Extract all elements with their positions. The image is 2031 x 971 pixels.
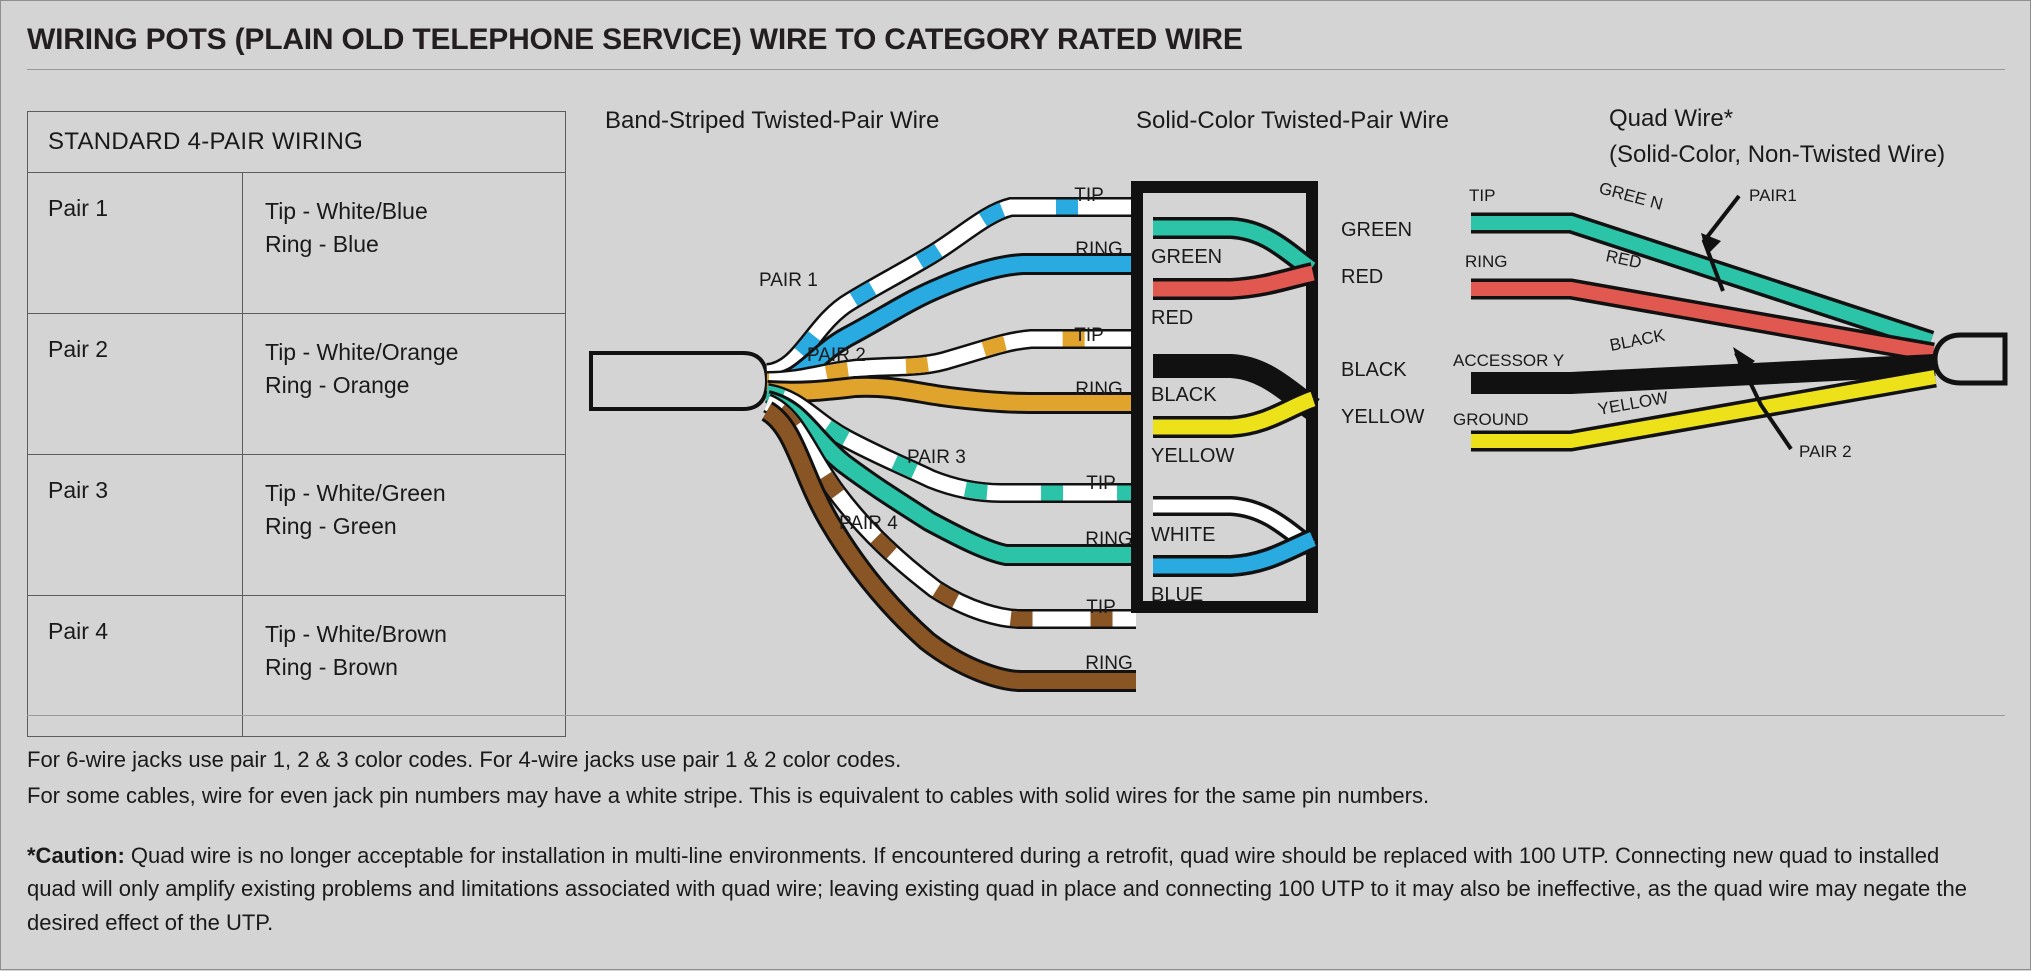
tip-code: Tip - White/Green (265, 477, 565, 510)
quad-wire-label-yellow: YELLOW (1596, 388, 1669, 419)
pair-label: Pair 1 (28, 173, 243, 314)
solid-pair-black-yellow: BLACK YELLOW BLACK YELLOW (1151, 359, 1424, 467)
quad-pair1-label: PAIR1 (1749, 186, 1797, 205)
footer-divider (27, 715, 2005, 716)
pair-colorcode: Tip - White/Green Ring - Green (243, 455, 566, 596)
section-heading-band-striped: Band-Striped Twisted-Pair Wire (605, 107, 939, 135)
quad-callout-pair1: PAIR1 (1701, 186, 1797, 291)
pair-label: Pair 3 (28, 455, 243, 596)
solid-pair-white-blue: WHITE BLUE (1151, 506, 1313, 606)
band-pair-2-tip-label: TIP (1074, 325, 1104, 346)
solid-color-box-frame (1137, 187, 1312, 607)
band-striped-pair-1: PAIR 1 TIP RING (759, 185, 1136, 383)
table-header-label: STANDARD 4-PAIR WIRING (28, 112, 566, 173)
ring-code: Ring - Orange (265, 369, 565, 402)
solid-label-black-out: BLACK (1341, 359, 1407, 381)
tip-code: Tip - White/Orange (265, 336, 565, 369)
title-divider (27, 69, 2005, 70)
quad-wire-red: RING RED (1465, 246, 1933, 353)
quad-callout-pair2: PAIR 2 (1733, 347, 1852, 461)
section-heading-quad-line1: Quad Wire* (1609, 105, 1733, 133)
quad-wire-black: ACCESSOR Y BLACK (1453, 326, 1935, 383)
caution-paragraph: *Caution: Quad wire is no longer accepta… (27, 839, 1992, 939)
ring-code: Ring - Blue (265, 228, 565, 261)
band-pair-4-label: PAIR 4 (839, 513, 898, 534)
pair-label: Pair 2 (28, 314, 243, 455)
diagram-page: WIRING POTS (PLAIN OLD TELEPHONE SERVICE… (0, 0, 2031, 970)
table-row: Pair 2 Tip - White/Orange Ring - Orange (28, 314, 566, 455)
caution-text: Quad wire is no longer acceptable for in… (27, 843, 1967, 935)
quad-label-tip: TIP (1469, 186, 1495, 205)
quad-cable-jacket (1935, 335, 2005, 383)
tip-code: Tip - White/Brown (265, 618, 565, 651)
footer-note-1: For 6-wire jacks use pair 1, 2 & 3 color… (27, 747, 901, 773)
section-heading-solid-color: Solid-Color Twisted-Pair Wire (1136, 107, 1449, 135)
solid-label-green-out: GREEN (1341, 219, 1412, 241)
band-striped-pair-4: PAIR 4 TIP RING (767, 403, 1136, 681)
band-pair-1-label: PAIR 1 (759, 270, 818, 291)
solid-label-blue-in: BLUE (1151, 584, 1203, 606)
quad-wire-yellow: GROUND YELLOW (1453, 377, 1935, 441)
band-striped-pair-3: PAIR 3 TIP RING (767, 393, 1136, 555)
table-row: Pair 3 Tip - White/Green Ring - Green (28, 455, 566, 596)
section-heading-quad-line2: (Solid-Color, Non-Twisted Wire) (1609, 141, 1945, 169)
quad-pair2-label: PAIR 2 (1799, 442, 1852, 461)
solid-pair-green-red: GREEN RED GREEN RED (1151, 219, 1412, 329)
band-pair-3-label: PAIR 3 (907, 447, 966, 468)
solid-label-yellow-out: YELLOW (1341, 406, 1424, 428)
solid-label-red-out: RED (1341, 266, 1383, 288)
quad-wire-green: TIP GREE N (1469, 179, 1931, 341)
band-pair-2-label: PAIR 2 (807, 345, 866, 366)
footer-note-2: For some cables, wire for even jack pin … (27, 783, 1429, 809)
pair-colorcode: Tip - White/Blue Ring - Blue (243, 173, 566, 314)
solid-label-yellow-in: YELLOW (1151, 445, 1234, 467)
quad-wire-label-green: GREE N (1597, 179, 1665, 214)
quad-label-ring: RING (1465, 252, 1508, 271)
table-header-row: STANDARD 4-PAIR WIRING (28, 112, 566, 173)
solid-label-red-in: RED (1151, 307, 1193, 329)
caution-label: *Caution: (27, 843, 125, 868)
quad-label-ground: GROUND (1453, 410, 1529, 429)
solid-label-black-in: BLACK (1151, 384, 1217, 406)
solid-label-green-in: GREEN (1151, 246, 1222, 268)
band-pair-1-ring-label: RING (1075, 239, 1123, 260)
table-row: Pair 1 Tip - White/Blue Ring - Blue (28, 173, 566, 314)
ring-code: Ring - Brown (265, 651, 565, 684)
band-pair-4-tip-label: TIP (1086, 597, 1116, 618)
band-pair-1-tip-label: TIP (1074, 185, 1104, 206)
page-title: WIRING POTS (PLAIN OLD TELEPHONE SERVICE… (27, 23, 1243, 57)
quad-wire-label-red: RED (1604, 246, 1643, 272)
band-pair-3-ring-label: RING (1085, 529, 1133, 550)
standard-4-pair-wiring-table: STANDARD 4-PAIR WIRING Pair 1 Tip - Whit… (27, 111, 566, 737)
tip-code: Tip - White/Blue (265, 195, 565, 228)
band-pair-3-tip-label: TIP (1086, 473, 1116, 494)
band-striped-pair-2: PAIR 2 TIP RING (767, 325, 1136, 403)
solid-label-white-in: WHITE (1151, 524, 1215, 546)
pair-colorcode: Tip - White/Orange Ring - Orange (243, 314, 566, 455)
band-pair-4-ring-label: RING (1085, 653, 1133, 674)
band-pair-2-ring-label: RING (1075, 379, 1123, 400)
quad-label-accessory: ACCESSOR Y (1453, 351, 1564, 370)
cable-jacket (591, 353, 767, 409)
quad-wire-label-black: BLACK (1608, 326, 1667, 355)
ring-code: Ring - Green (265, 510, 565, 543)
